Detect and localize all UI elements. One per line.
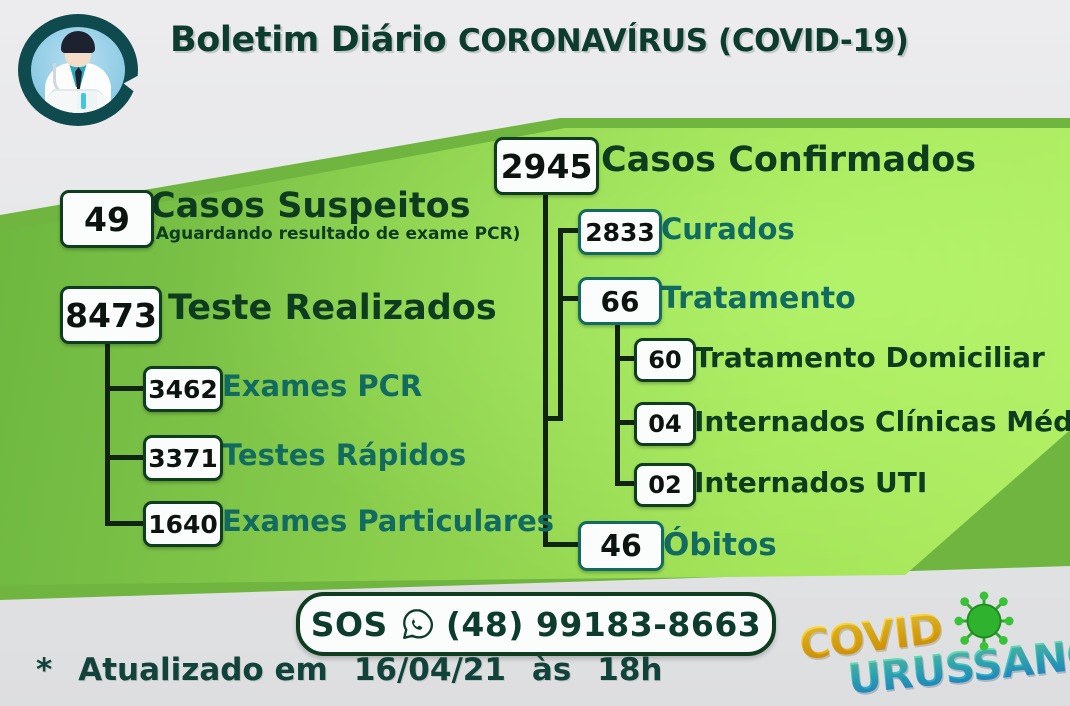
suspected-label: Casos Suspeitos bbox=[150, 186, 471, 226]
home-treatment-value: 60 bbox=[648, 346, 681, 374]
tests-label: Teste Realizados bbox=[168, 288, 497, 328]
sos-label: SOS bbox=[311, 605, 388, 644]
updated-footer: *Atualizado em16/04/21às18h bbox=[36, 652, 689, 688]
clinic-label: Internados Clínicas Médicas bbox=[694, 405, 1070, 438]
cured-value: 2833 bbox=[585, 218, 655, 247]
clinic-value: 04 bbox=[648, 410, 681, 438]
footer-date: 16/04/21 bbox=[354, 652, 506, 688]
covid-urussanga-logo: COVID URUSSANGA bbox=[795, 588, 1057, 694]
confirmed-trunk-line bbox=[543, 187, 548, 547]
sos-contact-bar[interactable]: SOS (48) 99183-8663 bbox=[296, 592, 776, 656]
whatsapp-icon bbox=[400, 607, 434, 641]
tests-value-box: 8473 bbox=[60, 286, 162, 344]
rapid-label: Testes Rápidos bbox=[222, 438, 466, 472]
icu-value: 02 bbox=[648, 471, 681, 499]
page-title-rest: CORONAVÍRUS (COVID-19) bbox=[458, 23, 909, 59]
private-label: Exames Particulares bbox=[222, 504, 554, 538]
page-title: Boletim Diário CORONAVÍRUS (COVID-19) bbox=[170, 20, 909, 60]
icu-value-box: 02 bbox=[634, 463, 696, 507]
doctor-pocket bbox=[77, 91, 97, 109]
treatment-value: 66 bbox=[601, 285, 640, 318]
confirmed-label: Casos Confirmados bbox=[601, 140, 976, 180]
icu-label: Internados UTI bbox=[694, 466, 927, 499]
suspected-value-box: 49 bbox=[60, 190, 154, 248]
deaths-value-box: 46 bbox=[578, 521, 664, 571]
footer-asterisk: * bbox=[36, 652, 52, 688]
home-treatment-value-box: 60 bbox=[634, 338, 696, 382]
tests-branch-2 bbox=[105, 455, 147, 460]
page-title-bold: Boletim Diário bbox=[170, 20, 458, 60]
cured-treatment-trunk bbox=[558, 230, 563, 420]
deaths-label: Óbitos bbox=[663, 527, 777, 563]
footer-at-label: às bbox=[532, 652, 571, 688]
cured-trunk-join bbox=[543, 416, 563, 421]
doctor-avatar bbox=[14, 8, 142, 126]
tests-trunk-line bbox=[105, 336, 110, 526]
confirmed-value: 2945 bbox=[501, 147, 593, 186]
sos-phone: (48) 99183-8663 bbox=[446, 605, 761, 644]
pcr-label: Exames PCR bbox=[222, 369, 422, 403]
treatment-label: Tratamento bbox=[661, 281, 856, 316]
rapid-value: 3371 bbox=[148, 444, 218, 473]
private-value: 1640 bbox=[148, 510, 218, 539]
footer-updated-label: Atualizado em bbox=[78, 652, 328, 688]
virus-icon bbox=[953, 590, 1015, 652]
deaths-value: 46 bbox=[600, 529, 642, 564]
confirmed-value-box: 2945 bbox=[494, 137, 599, 195]
suspected-value: 49 bbox=[84, 200, 130, 239]
cured-value-box: 2833 bbox=[578, 209, 662, 255]
doctor-pen bbox=[81, 93, 86, 109]
cured-label: Curados bbox=[661, 212, 795, 246]
footer-time: 18h bbox=[597, 652, 662, 688]
avatar-inner bbox=[31, 27, 125, 113]
treatment-value-box: 66 bbox=[578, 277, 662, 325]
pcr-value-box: 3462 bbox=[143, 366, 223, 412]
home-treatment-label: Tratamento Domiciliar bbox=[694, 341, 1045, 374]
suspected-note: (Aguardando resultado de exame PCR) bbox=[148, 224, 520, 244]
rapid-value-box: 3371 bbox=[143, 435, 223, 481]
pcr-value: 3462 bbox=[148, 375, 218, 404]
doctor-hair bbox=[61, 31, 95, 53]
private-value-box: 1640 bbox=[143, 501, 223, 547]
clinic-value-box: 04 bbox=[634, 402, 696, 446]
tests-branch-1 bbox=[105, 386, 147, 391]
tests-branch-3 bbox=[105, 521, 147, 526]
treatment-trunk-line bbox=[615, 319, 620, 485]
tests-value: 8473 bbox=[65, 296, 157, 335]
infographic-canvas: Boletim Diário CORONAVÍRUS (COVID-19) 49… bbox=[0, 0, 1070, 706]
